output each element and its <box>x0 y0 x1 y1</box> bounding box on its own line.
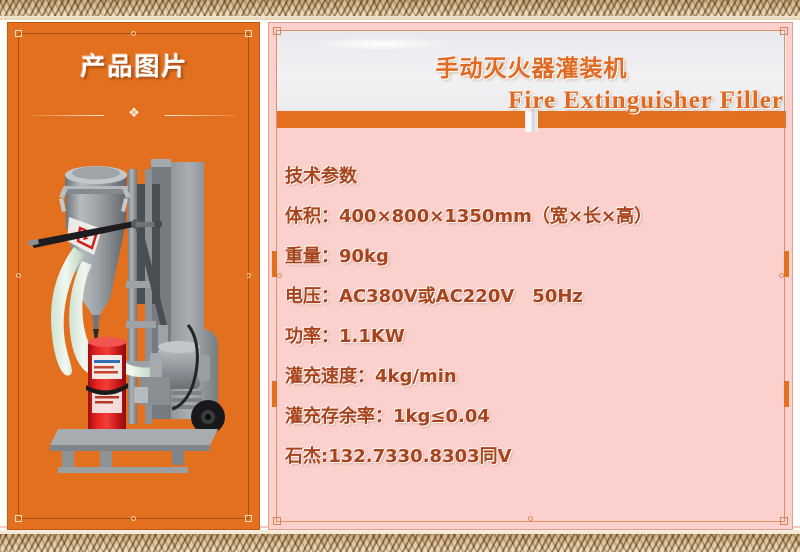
side-accent-tab-left-upper <box>272 251 277 277</box>
product-photo <box>22 129 247 499</box>
side-accent-tab-right-lower <box>784 381 789 407</box>
spec-voltage: 电压：AC380V或AC220V 50Hz <box>285 277 777 317</box>
specification-panel: 手动灭火器灌装机 Fire Extinguisher Filler 技术参数 体… <box>268 22 793 530</box>
side-accent-tab-right-upper <box>784 251 789 277</box>
spec-filling-speed: 灌充速度：4kg/min <box>285 357 777 397</box>
corner-ornament-top-left <box>273 27 281 35</box>
specification-list: 技术参数 体积：400×800×1350mm（宽×长×高） 重量：90kg 电压… <box>285 157 777 477</box>
product-poster: 产品图片 ❖ <box>0 0 800 552</box>
edge-dot-top <box>131 31 136 36</box>
side-accent-tab-left-lower <box>272 381 277 407</box>
top-texture-band <box>0 0 800 16</box>
corner-ornament-top-right <box>245 30 252 37</box>
corner-ornament-top-left <box>15 30 22 37</box>
product-image-panel: 产品图片 ❖ <box>7 22 260 530</box>
bottom-texture-band <box>0 534 800 552</box>
corner-ornament-bottom-right <box>780 517 788 525</box>
divider-line-left <box>32 115 104 116</box>
edge-dot-bottom <box>528 516 533 521</box>
spec-weight: 重量：90kg <box>285 237 777 277</box>
decorative-divider: ❖ <box>32 109 237 123</box>
spec-heading: 技术参数 <box>285 157 777 197</box>
corner-ornament-bottom-left <box>15 515 22 522</box>
corner-ornament-bottom-right <box>245 515 252 522</box>
top-band-edge <box>0 16 800 20</box>
edge-dot-left <box>277 273 282 278</box>
divider-line-right <box>165 115 237 116</box>
product-title-english: Fire Extinguisher Filler <box>508 87 784 115</box>
spec-volume: 体积：400×800×1350mm（宽×长×高） <box>285 197 777 237</box>
corner-ornament-bottom-left <box>273 517 281 525</box>
filling-machine-illustration <box>22 129 247 499</box>
spec-contact: 石杰:132.7330.8303同V <box>285 437 777 477</box>
product-title-chinese: 手动灭火器灌装机 <box>277 49 786 83</box>
edge-dot-left <box>16 273 21 278</box>
divider-ornament-icon: ❖ <box>128 107 141 121</box>
edge-dot-bottom <box>131 516 136 521</box>
spec-power: 功率：1.1KW <box>285 317 777 357</box>
corner-ornament-top-right <box>780 27 788 35</box>
left-panel-title: 产品图片 <box>8 47 260 83</box>
spec-residual-rate: 灌充存余率：1kg≤0.04 <box>285 397 777 437</box>
